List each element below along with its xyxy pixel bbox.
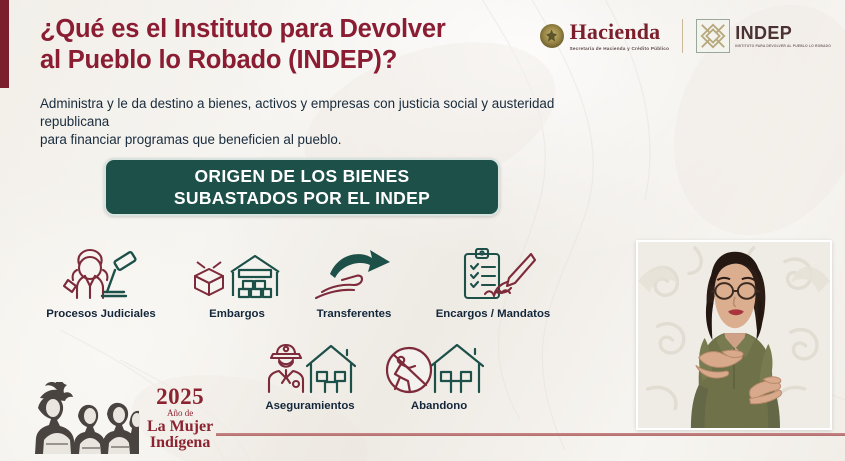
origin-label: Transferentes — [296, 308, 412, 320]
indep-logo: INDEP INSTITUTO PARA DEVOLVER AL PUEBLO … — [696, 19, 831, 53]
indigenous-women-illustration — [30, 382, 140, 454]
section-banner-line-1: ORIGEN DE LOS BIENES — [194, 165, 409, 187]
origin-item-abandono: Abandono — [378, 340, 500, 412]
page-subtitle-line-2: para financiar programas que beneficien … — [40, 131, 625, 149]
campaign-line-1: La Mujer — [147, 419, 213, 435]
page-subtitle: Administra y le da destino a bienes, act… — [40, 95, 625, 149]
hacienda-logo: Hacienda Secretaría de Hacienda y Crédit… — [540, 21, 670, 51]
mexico-coat-of-arms-icon — [540, 24, 564, 48]
indep-logo-subtitle: INSTITUTO PARA DEVOLVER AL PUEBLO LO ROB… — [735, 44, 831, 49]
page-title-line-1: ¿Qué es el Instituto para Devolver — [40, 14, 560, 45]
origin-item-procesos-judiciales: Procesos Judiciales — [20, 248, 182, 320]
origin-item-embargos: Embargos — [178, 248, 296, 320]
clipboard-signing-hand-icon — [412, 248, 574, 304]
indep-monogram-icon — [696, 19, 730, 53]
origin-label: Aseguramientos — [240, 400, 380, 412]
hacienda-logo-subtitle: Secretaría de Hacienda y Crédito Público — [570, 46, 670, 51]
origin-label: Embargos — [178, 308, 296, 320]
campaign-prefix: Año de — [167, 409, 193, 418]
origin-label: Abandono — [378, 400, 500, 412]
page-subtitle-line-1: Administra y le da destino a bienes, act… — [40, 95, 625, 131]
hand-arrow-icon — [296, 248, 412, 304]
hacienda-logo-name: Hacienda — [570, 21, 670, 43]
campaign-line-2: Indígena — [150, 435, 210, 451]
origin-item-aseguramientos: Aseguramientos — [240, 340, 380, 412]
police-officer-house-icon — [240, 340, 380, 396]
logo-group: Hacienda Secretaría de Hacienda y Crédit… — [540, 19, 831, 53]
origin-label: Encargos / Mandatos — [412, 308, 574, 320]
indep-logo-name: INDEP — [735, 24, 831, 42]
campaign-lockup: 2025 Año de La Mujer Indígena — [30, 382, 213, 454]
origin-label: Procesos Judiciales — [20, 308, 182, 320]
section-banner-line-2: SUBASTADOS POR EL INDEP — [174, 187, 430, 209]
interpreter-figure — [638, 242, 830, 428]
origin-item-transferentes: Transferentes — [296, 248, 412, 320]
bottom-rule — [216, 433, 845, 436]
page-title: ¿Qué es el Instituto para Devolver al Pu… — [40, 14, 560, 77]
no-pedestrian-house-icon — [378, 340, 500, 396]
logo-divider — [682, 19, 683, 53]
campaign-year: 2025 — [156, 385, 204, 408]
page-title-line-2: al Pueblo lo Robado (INDEP)? — [40, 45, 560, 76]
section-banner: ORIGEN DE LOS BIENES SUBASTADOS POR EL I… — [104, 158, 500, 216]
box-warehouse-icon — [178, 248, 296, 304]
sign-language-interpreter-video[interactable] — [636, 240, 832, 430]
header-accent-bar — [0, 0, 9, 88]
origin-item-encargos-mandatos: Encargos / Mandatos — [412, 248, 574, 320]
slide-canvas: ¿Qué es el Instituto para Devolver al Pu… — [0, 0, 845, 461]
judge-gavel-icon — [20, 248, 182, 304]
